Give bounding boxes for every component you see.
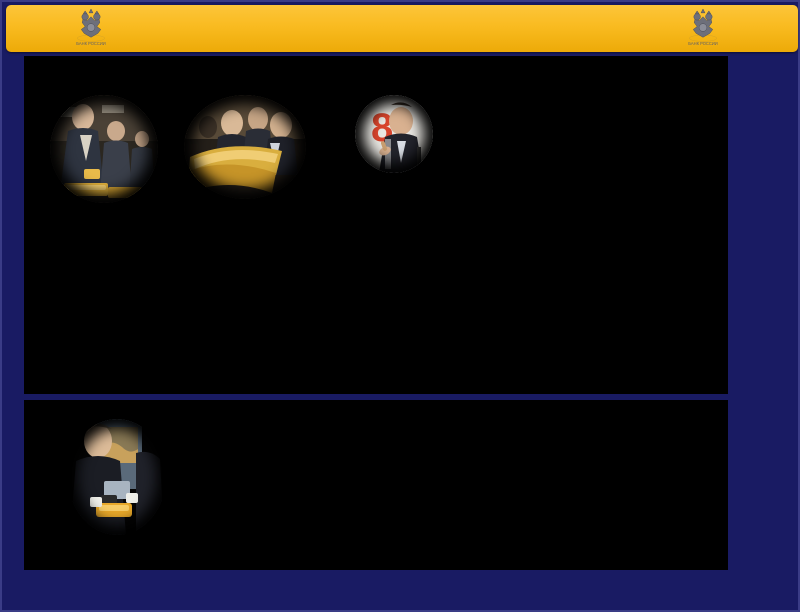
vignette-overlay [50, 95, 158, 203]
vignette-overlay [184, 95, 306, 199]
title-banner: БАНК РОССИИ БАНК РОССИИ [6, 5, 798, 52]
svg-text:БАНК РОССИИ: БАНК РОССИИ [688, 41, 717, 46]
svg-text:БАНК РОССИИ: БАНК РОССИИ [76, 41, 105, 46]
photo-officials-with-gold-bar [184, 95, 306, 199]
photo-medvedev-speaking: 8 [355, 95, 433, 173]
vignette-overlay [68, 419, 166, 535]
chart-page: БАНК РОССИИ БАНК РОССИИ [0, 0, 800, 612]
bank-of-russia-emblem-icon: БАНК РОССИИ [682, 8, 724, 49]
vignette-overlay [355, 95, 433, 173]
photo-putin-inspecting-gold-bars [50, 95, 158, 203]
bank-of-russia-emblem-icon: БАНК РОССИИ [70, 8, 112, 49]
photo-putin-holding-gold-bar [68, 419, 166, 535]
